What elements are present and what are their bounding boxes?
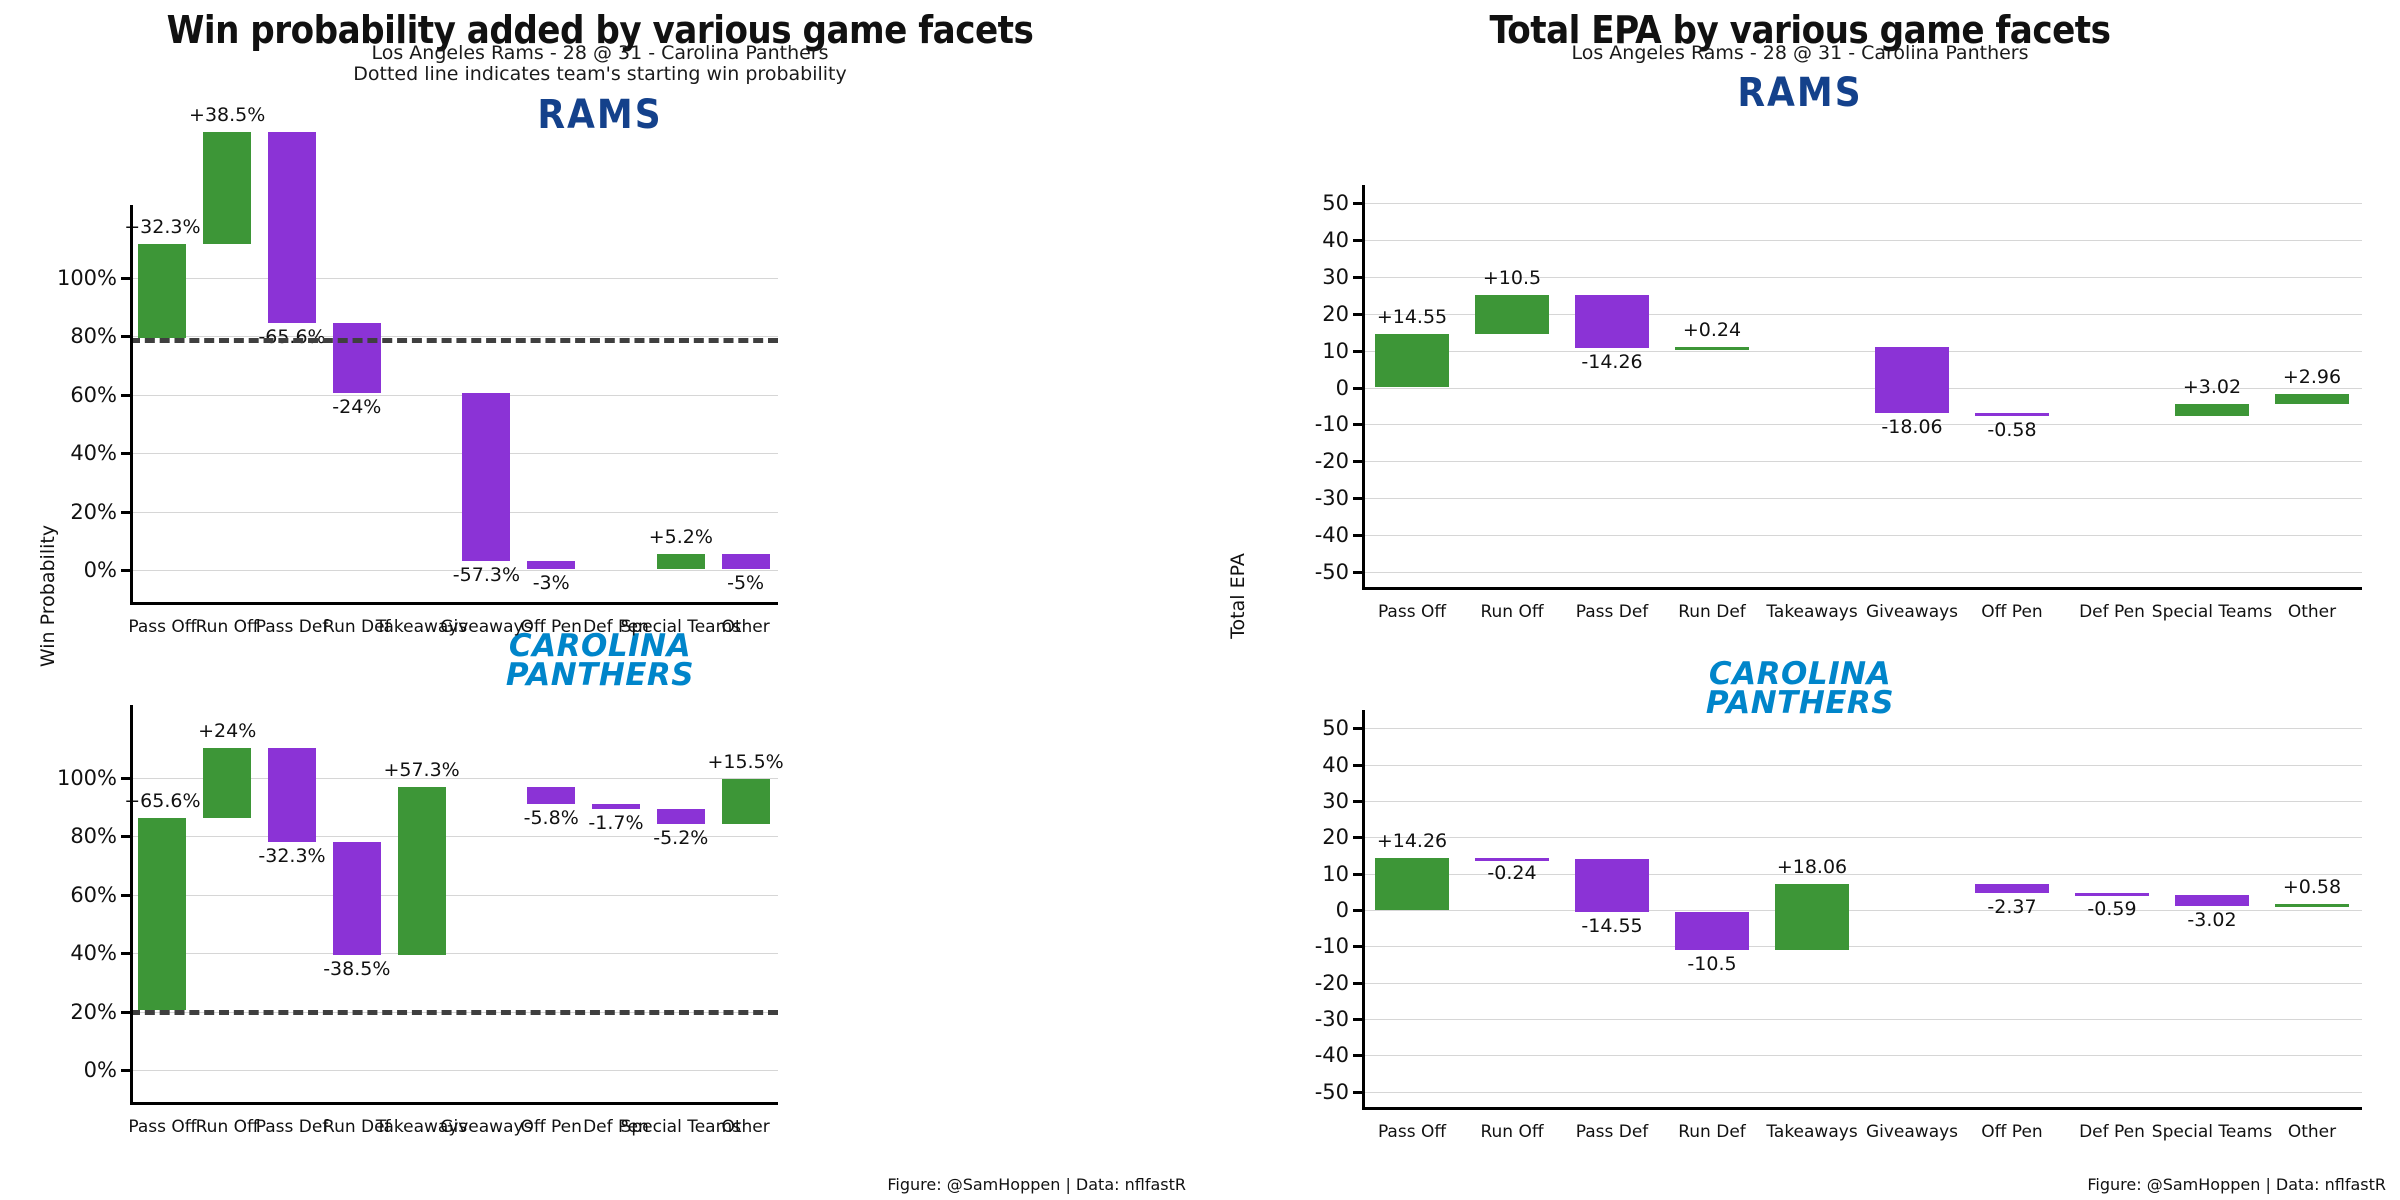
bar-value-label: +32.3%: [124, 216, 200, 238]
gridline: [130, 512, 778, 513]
gridline: [130, 278, 778, 279]
y-axis-tick: [1353, 764, 1362, 767]
bar-giveaways: [462, 393, 510, 560]
gridline: [130, 1070, 778, 1071]
x-axis-tick-label: Giveaways: [440, 1117, 532, 1137]
gridline: [1362, 203, 2362, 204]
bar-value-label: -5.8%: [524, 807, 579, 829]
gridline: [1362, 535, 2362, 536]
y-axis-tick-label: -40: [1315, 1043, 1349, 1067]
y-axis-tick-label: -10: [1315, 412, 1349, 436]
y-axis-tick: [121, 511, 130, 514]
y-axis-tick: [1353, 239, 1362, 242]
bar-run-off: [203, 748, 251, 818]
bar-other: [2275, 904, 2349, 907]
y-axis-tick: [121, 952, 130, 955]
y-axis-tick: [1353, 727, 1362, 730]
bar-takeaways: [1775, 884, 1849, 950]
chart-wp-panthers: 0%20%40%60%80%100%+65.6%Pass Off+24%Run …: [130, 705, 778, 1105]
y-axis-tick-label: -20: [1315, 971, 1349, 995]
gridline: [1362, 498, 2362, 499]
bar-value-label: -3%: [533, 572, 570, 594]
x-axis-tick-label: Pass Off: [128, 617, 196, 637]
y-axis-tick-label: 50: [1322, 191, 1349, 215]
x-axis-tick-label: Run Off: [1480, 1122, 1543, 1142]
panthers-wordmark-line2: PANTHERS: [0, 661, 1200, 690]
bar-run-off: [1475, 858, 1549, 861]
bar-value-label: +18.06: [1777, 856, 1847, 878]
y-axis-tick: [1353, 387, 1362, 390]
x-axis-line: [1362, 1107, 2362, 1110]
y-axis-tick-label: 20%: [70, 1000, 117, 1024]
y-axis-tick-label: 20%: [70, 500, 117, 524]
y-axis-tick: [121, 452, 130, 455]
y-axis-tick-label: 60%: [70, 883, 117, 907]
chart-epa-panthers: -50-40-30-20-1001020304050+14.26Pass Off…: [1362, 710, 2362, 1110]
y-axis-tick: [1353, 836, 1362, 839]
gridline: [1362, 572, 2362, 573]
gridline: [1362, 837, 2362, 838]
bar-pass-off: [138, 818, 186, 1010]
gridline: [1362, 424, 2362, 425]
right-y-axis-title: Total EPA: [1227, 496, 1249, 696]
y-axis-tick-label: 60%: [70, 383, 117, 407]
x-axis-tick-label: Run Off: [1480, 602, 1543, 622]
y-axis-tick: [121, 394, 130, 397]
y-axis-tick: [1353, 909, 1362, 912]
y-axis-line: [1362, 185, 1365, 590]
footer-credit-left: Figure: @SamHoppen | Data: nflfastR: [887, 1175, 1186, 1194]
bar-value-label: -3.02: [2187, 909, 2236, 931]
y-axis-tick-label: 30: [1322, 789, 1349, 813]
x-axis-tick-label: Run Off: [196, 617, 259, 637]
x-axis-tick-label: Pass Off: [128, 1117, 196, 1137]
bar-value-label: -5%: [727, 572, 764, 594]
bar-run-off: [1475, 295, 1549, 334]
y-axis-tick: [1353, 460, 1362, 463]
bar-off-pen: [1975, 884, 2049, 893]
gridline: [1362, 1092, 2362, 1093]
right-chart-subtitle-matchup: Los Angeles Rams - 28 @ 31 - Carolina Pa…: [1200, 42, 2400, 64]
bar-value-label: -32.3%: [258, 845, 325, 867]
x-axis-tick-label: Special Teams: [2152, 1122, 2272, 1142]
y-axis-tick: [1353, 945, 1362, 948]
y-axis-tick-label: 0: [1336, 376, 1349, 400]
bar-other: [722, 554, 770, 569]
y-axis-tick-label: -30: [1315, 1007, 1349, 1031]
gridline: [1362, 765, 2362, 766]
bar-other: [722, 779, 770, 824]
bar-value-label: -0.58: [1987, 419, 2036, 441]
bar-value-label: -0.59: [2087, 898, 2136, 920]
x-axis-tick-label: Pass Off: [1378, 602, 1446, 622]
x-axis-tick-label: Takeaways: [1766, 1122, 1857, 1142]
y-axis-tick-label: 80%: [70, 824, 117, 848]
x-axis-tick-label: Def Pen: [2079, 602, 2145, 622]
bar-value-label: -10.5: [1687, 953, 1736, 975]
y-axis-tick: [1353, 313, 1362, 316]
bar-value-label: -14.26: [1581, 351, 1642, 373]
gridline: [1362, 1019, 2362, 1020]
y-axis-tick-label: 100%: [57, 766, 117, 790]
rams-wordmark-left: RAMS: [0, 92, 1200, 138]
x-axis-tick-label: Run Def: [1678, 602, 1746, 622]
gridline: [1362, 946, 2362, 947]
y-axis-tick: [1353, 202, 1362, 205]
x-axis-tick-label: Off Pen: [520, 1117, 581, 1137]
y-axis-tick: [1353, 534, 1362, 537]
bar-def-pen: [2075, 893, 2149, 896]
bar-value-label: +0.58: [2283, 876, 2341, 898]
gridline: [130, 953, 778, 954]
y-axis-tick-label: 80%: [70, 324, 117, 348]
panthers-wordmark-left: CAROLINA PANTHERS: [0, 632, 1200, 691]
bar-value-label: -1.7%: [588, 812, 643, 834]
y-axis-tick-label: 0%: [84, 1058, 117, 1082]
y-axis-tick-label: -50: [1315, 1080, 1349, 1104]
left-y-axis-title: Win Probability: [37, 496, 59, 696]
bar-value-label: +57.3%: [383, 759, 459, 781]
gridline: [1362, 461, 2362, 462]
y-axis-tick: [1353, 1054, 1362, 1057]
y-axis-tick: [1353, 571, 1362, 574]
y-axis-tick: [1353, 1018, 1362, 1021]
y-axis-tick: [121, 1011, 130, 1014]
x-axis-tick-label: Takeaways: [1766, 602, 1857, 622]
chart-epa-rams: -50-40-30-20-1001020304050+14.55Pass Off…: [1362, 185, 2362, 590]
x-axis-tick-label: Pass Off: [1378, 1122, 1446, 1142]
x-axis-tick-label: Pass Def: [256, 1117, 329, 1137]
y-axis-tick-label: 0%: [84, 558, 117, 582]
y-axis-tick: [1353, 1091, 1362, 1094]
y-axis-line: [1362, 710, 1365, 1110]
bar-special-teams: [2175, 895, 2249, 906]
x-axis-tick-label: Other: [2288, 1122, 2336, 1142]
y-axis-tick-label: 100%: [57, 266, 117, 290]
x-axis-tick-label: Other: [2288, 602, 2336, 622]
bar-special-teams: [657, 554, 705, 569]
bar-value-label: +10.5: [1483, 267, 1541, 289]
y-axis-tick: [121, 277, 130, 280]
y-axis-tick-label: 40: [1322, 753, 1349, 777]
gridline: [1362, 1055, 2362, 1056]
bar-off-pen: [527, 787, 575, 804]
x-axis-tick-label: Off Pen: [1981, 602, 2042, 622]
x-axis-tick-label: Def Pen: [2079, 1122, 2145, 1142]
bar-value-label: +14.55: [1377, 306, 1447, 328]
gridline: [1362, 351, 2362, 352]
y-axis-tick: [1353, 800, 1362, 803]
bar-pass-off: [1375, 858, 1449, 910]
bar-value-label: +0.24: [1683, 319, 1741, 341]
bar-pass-def: [268, 748, 316, 842]
y-axis-tick: [1353, 350, 1362, 353]
y-axis-tick: [1353, 497, 1362, 500]
y-axis-tick: [1353, 276, 1362, 279]
bar-value-label: -0.24: [1487, 862, 1536, 884]
y-axis-tick: [121, 835, 130, 838]
y-axis-tick-label: 40%: [70, 441, 117, 465]
chart-wp-rams: 0%20%40%60%80%100%+32.3%Pass Off+38.5%Ru…: [130, 205, 778, 605]
gridline: [130, 895, 778, 896]
y-axis-tick-label: 40%: [70, 941, 117, 965]
bar-pass-def: [1575, 295, 1649, 348]
x-axis-line: [130, 602, 778, 605]
bar-value-label: -2.37: [1987, 896, 2036, 918]
bar-run-def: [333, 842, 381, 954]
bar-value-label: -57.3%: [453, 564, 520, 586]
bar-off-pen: [527, 561, 575, 570]
bar-value-label: -18.06: [1881, 416, 1942, 438]
y-axis-tick: [121, 569, 130, 572]
bar-off-pen: [1975, 413, 2049, 416]
y-axis-tick-label: 0: [1336, 898, 1349, 922]
gridline: [1362, 240, 2362, 241]
bar-value-label: +3.02: [2183, 376, 2241, 398]
x-axis-tick-label: Other: [721, 1117, 769, 1137]
y-axis-tick: [1353, 423, 1362, 426]
rams-wordmark-right: RAMS: [1200, 70, 2400, 116]
bar-value-label: +24%: [198, 720, 256, 742]
left-chart-subtitle-matchup: Los Angeles Rams - 28 @ 31 - Carolina Pa…: [0, 42, 1200, 64]
bar-pass-def: [268, 132, 316, 324]
bar-value-label: -5.2%: [653, 827, 708, 849]
x-axis-tick-label: Giveaways: [1866, 602, 1958, 622]
gridline: [1362, 801, 2362, 802]
bar-value-label: +65.6%: [124, 790, 200, 812]
bar-run-def: [333, 323, 381, 393]
y-axis-line: [130, 205, 133, 605]
bar-value-label: +38.5%: [189, 104, 265, 126]
x-axis-line: [130, 1102, 778, 1105]
y-axis-tick-label: -10: [1315, 934, 1349, 958]
bar-value-label: -38.5%: [323, 958, 390, 980]
y-axis-tick-label: 10: [1322, 339, 1349, 363]
y-axis-tick-label: 50: [1322, 716, 1349, 740]
bar-pass-off: [1375, 334, 1449, 388]
x-axis-tick-label: Pass Def: [1576, 1122, 1649, 1142]
y-axis-tick: [121, 777, 130, 780]
gridline: [1362, 983, 2362, 984]
bar-takeaways: [398, 787, 446, 954]
gridline: [130, 336, 778, 337]
y-axis-tick: [121, 1069, 130, 1072]
gridline: [130, 453, 778, 454]
bar-value-label: -14.55: [1581, 915, 1642, 937]
y-axis-tick: [1353, 982, 1362, 985]
bar-value-label: -65.6%: [258, 326, 325, 348]
bar-run-def: [1675, 912, 1749, 950]
y-axis-tick-label: -50: [1315, 560, 1349, 584]
starting-win-probability-line: [130, 338, 778, 343]
y-axis-line: [130, 705, 133, 1105]
left-chart-subtitle-note: Dotted line indicates team's starting wi…: [0, 63, 1200, 85]
y-axis-tick-label: 10: [1322, 862, 1349, 886]
x-axis-tick-label: Off Pen: [520, 617, 581, 637]
win-probability-panel: Win probability added by various game fa…: [0, 0, 1200, 1200]
bar-def-pen: [592, 804, 640, 809]
bar-value-label: +5.2%: [649, 526, 713, 548]
y-axis-tick-label: -40: [1315, 523, 1349, 547]
footer-credit-right: Figure: @SamHoppen | Data: nflfastR: [2087, 1175, 2386, 1194]
x-axis-tick-label: Giveaways: [440, 617, 532, 637]
bar-value-label: -24%: [332, 396, 381, 418]
x-axis-tick-label: Pass Def: [1576, 602, 1649, 622]
bar-run-def: [1675, 347, 1749, 350]
y-axis-tick-label: -30: [1315, 486, 1349, 510]
bar-pass-off: [138, 244, 186, 338]
y-axis-tick-label: 30: [1322, 265, 1349, 289]
x-axis-tick-label: Giveaways: [1866, 1122, 1958, 1142]
starting-win-probability-line: [130, 1010, 778, 1015]
bar-value-label: +2.96: [2283, 366, 2341, 388]
gridline: [130, 395, 778, 396]
y-axis-tick: [1353, 873, 1362, 876]
y-axis-tick: [121, 894, 130, 897]
x-axis-line: [1362, 587, 2362, 590]
x-axis-tick-label: Run Off: [196, 1117, 259, 1137]
bar-special-teams: [2175, 404, 2249, 415]
y-axis-tick-label: 20: [1322, 825, 1349, 849]
gridline: [1362, 728, 2362, 729]
x-axis-tick-label: Other: [721, 617, 769, 637]
x-axis-tick-label: Run Def: [1678, 1122, 1746, 1142]
x-axis-tick-label: Special Teams: [2152, 602, 2272, 622]
bar-pass-def: [1575, 859, 1649, 912]
bar-value-label: +14.26: [1377, 830, 1447, 852]
x-axis-tick-label: Pass Def: [256, 617, 329, 637]
y-axis-tick-label: 20: [1322, 302, 1349, 326]
y-axis-tick: [121, 335, 130, 338]
bar-other: [2275, 394, 2349, 405]
bar-value-label: +15.5%: [707, 751, 783, 773]
bar-special-teams: [657, 809, 705, 824]
x-axis-tick-label: Off Pen: [1981, 1122, 2042, 1142]
total-epa-panel: Total EPA by various game facets Los Ang…: [1200, 0, 2400, 1200]
y-axis-tick-label: -20: [1315, 449, 1349, 473]
y-axis-tick-label: 40: [1322, 228, 1349, 252]
bar-giveaways: [1875, 347, 1949, 413]
bar-run-off: [203, 132, 251, 244]
